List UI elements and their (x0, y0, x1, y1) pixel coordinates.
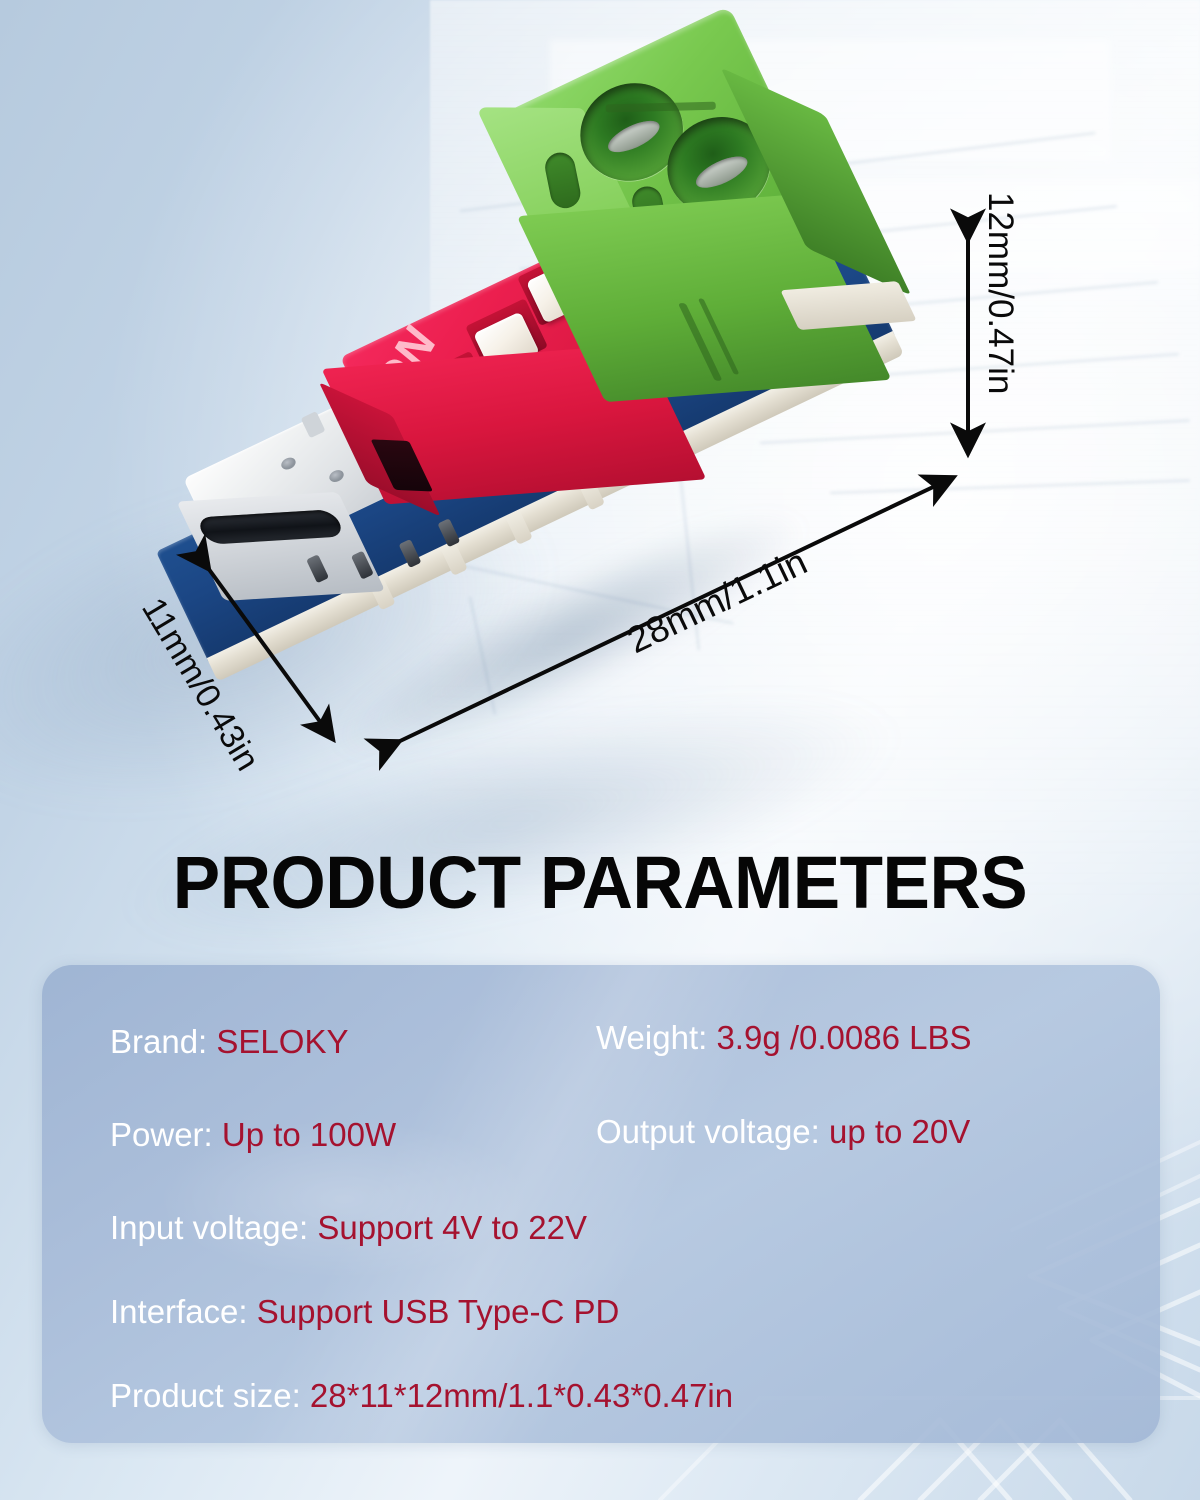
dimension-label-height: 12mm/0.47in (980, 192, 1020, 394)
product-infographic: ON 1 2 3 (0, 0, 1200, 1500)
spec-output-voltage-value: up to 20V (829, 1113, 970, 1150)
spec-input-voltage-value: Support 4V to 22V (317, 1209, 587, 1246)
spec-product-size-value: 28*11*12mm/1.1*0.43*0.47in (310, 1377, 733, 1414)
spec-interface-value: Support USB Type-C PD (257, 1293, 620, 1330)
spec-power-value: Up to 100W (222, 1116, 396, 1153)
spec-power: Power: Up to 100W (110, 1118, 396, 1151)
spec-product-size: Product size: 28*11*12mm/1.1*0.43*0.47in (110, 1379, 733, 1412)
spec-brand: Brand: SELOKY (110, 1025, 348, 1058)
dimension-callouts (0, 0, 1200, 860)
spec-brand-key: Brand: (110, 1023, 216, 1060)
spec-output-voltage-key: Output voltage: (596, 1113, 829, 1150)
spec-interface: Interface: Support USB Type-C PD (110, 1295, 619, 1328)
page-title: PRODUCT PARAMETERS (24, 846, 1176, 920)
spec-power-key: Power: (110, 1116, 222, 1153)
spec-interface-key: Interface: (110, 1293, 257, 1330)
spec-product-size-key: Product size: (110, 1377, 310, 1414)
spec-weight-value: 3.9g /0.0086 LBS (716, 1019, 971, 1056)
product-photo: ON 1 2 3 (0, 0, 1200, 840)
spec-weight-key: Weight: (596, 1019, 716, 1056)
spec-output-voltage: Output voltage: up to 20V (596, 1115, 970, 1148)
spec-input-voltage: Input voltage: Support 4V to 22V (110, 1211, 587, 1244)
spec-panel: Brand: SELOKY Weight: 3.9g /0.0086 LBS P… (42, 965, 1160, 1443)
spec-brand-value: SELOKY (216, 1023, 348, 1060)
spec-input-voltage-key: Input voltage: (110, 1209, 317, 1246)
spec-weight: Weight: 3.9g /0.0086 LBS (596, 1021, 972, 1054)
